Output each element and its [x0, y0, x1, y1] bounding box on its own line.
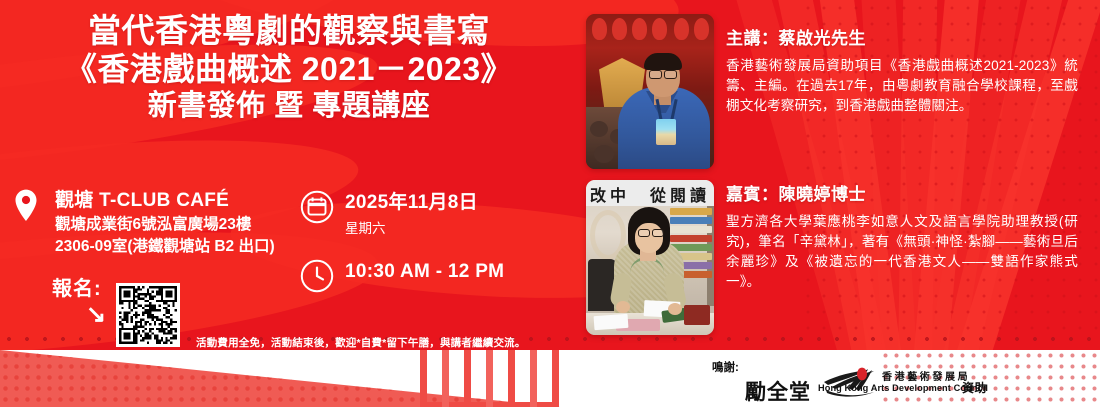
thanks-label: 鳴謝: [712, 359, 739, 375]
hkadc-name-cn: 香港藝術發展局 [882, 368, 970, 383]
banner-char: 從 [650, 182, 666, 206]
event-weekday: 星期六 [345, 217, 478, 237]
speaker-photo-2: 改 中 從 閱 讀 [586, 180, 714, 335]
time-row: 10:30 AM - 12 PM [300, 259, 590, 293]
schedule-info-group: 2025年11月8日 星期六 10:30 AM - 12 PM [300, 190, 590, 293]
qr-code-icon[interactable] [116, 283, 180, 347]
desk-paper [594, 314, 629, 330]
lantern-decoration [632, 18, 647, 40]
speaker-2-name: 嘉賓：陳曉婷博士 [726, 180, 1078, 205]
speaker-photo-1-image [586, 14, 714, 169]
guest-hand [668, 303, 682, 315]
date-text: 2025年11月8日 星期六 [345, 190, 478, 237]
calendar-icon [300, 190, 334, 224]
event-promo-banner: 當代香港粵劇的觀察與書寫 《香港戲曲概述 2021－2023》 新書發佈 暨 專… [0, 0, 1100, 407]
event-date: 2025年11月8日 [345, 191, 478, 215]
title-line-3: 新書發佈 暨 專題講座 [0, 89, 578, 123]
speaker-photo-1 [586, 14, 714, 169]
speaker-hair [644, 53, 682, 70]
register-label: 報名: [52, 272, 106, 301]
event-badge [656, 119, 676, 145]
speaker-1-name: 主講：蔡啟光先生 [726, 24, 1078, 49]
banner-char: 讀 [690, 182, 706, 206]
speaker-2-description: 聖方濟各大學葉應桃李如意人文及語言學院助理教授(研究)，筆名「辛黛林」，著有《無… [726, 212, 1078, 292]
venue-text: 觀塘 T-CLUB CAFÉ 觀塘成業街6號泓富廣場23樓 2306-09室(港… [55, 188, 275, 258]
lantern-decoration [592, 18, 607, 40]
lantern-decoration [652, 18, 667, 40]
banner-char: 中 [610, 182, 626, 206]
speaker-1-description: 香港藝術發展局資助項目《香港戲曲概述2021-2023》統籌、主編。在過去17年… [726, 56, 1078, 116]
registration-group: 報名: ↘ [52, 272, 106, 327]
wall-banner: 改 中 從 閱 讀 [586, 180, 714, 206]
time-text: 10:30 AM - 12 PM [345, 259, 504, 284]
funding-label: 資助 [962, 379, 987, 396]
venue-name: 觀塘 T-CLUB CAFÉ [55, 189, 275, 213]
event-fineprint: 活動費用全免，活動結束後，歡迎*自費*留下午膳，與講者繼續交流。 [196, 335, 546, 350]
location-pin-icon [10, 188, 44, 222]
event-title: 當代香港粵劇的觀察與書寫 《香港戲曲概述 2021－2023》 新書發佈 暨 專… [0, 12, 578, 123]
qr-code-pattern [119, 286, 177, 344]
banner-char: 改 [590, 182, 606, 206]
sponsor-footer: 鳴謝: 勵全堂 香港藝術發展局 Hong Kong Arts Developme… [0, 350, 1100, 407]
lantern-decoration [674, 18, 689, 40]
speaker-photo-2-image: 改 中 從 閱 讀 [586, 180, 714, 335]
date-row: 2025年11月8日 星期六 [300, 190, 590, 237]
arrow-down-right-icon: ↘ [86, 303, 106, 327]
banner-char: 閱 [670, 182, 686, 206]
event-time: 10:30 AM - 12 PM [345, 260, 504, 284]
venue-address-line-1: 觀塘成業街6號泓富廣場23樓 [55, 215, 275, 235]
eyeglass-lens [664, 70, 677, 79]
title-line-2: 《香港戲曲概述 2021－2023》 [0, 51, 578, 89]
venue-row: 觀塘 T-CLUB CAFÉ 觀塘成業街6號泓富廣場23樓 2306-09室(港… [10, 188, 300, 258]
guest-hand [616, 301, 630, 313]
speaker-bio-2: 嘉賓：陳曉婷博士 聖方濟各大學葉應桃李如意人文及語言學院助理教授(研究)，筆名「… [726, 180, 1078, 292]
lantern-decoration [694, 18, 709, 40]
eyeglass-lens [652, 229, 664, 237]
red-book [684, 305, 710, 325]
lantern-decoration [612, 18, 627, 40]
title-line-1: 當代香港粵劇的觀察與書寫 [0, 12, 578, 51]
eyeglass-lens [649, 70, 662, 79]
venue-info-group: 觀塘 T-CLUB CAFÉ 觀塘成業街6號泓富廣場23樓 2306-09室(港… [10, 188, 300, 258]
clock-icon [300, 259, 334, 293]
venue-address-line-2: 2306-09室(港鐵觀塘站 B2 出口) [55, 237, 275, 257]
speaker-bio-1: 主講：蔡啟光先生 香港藝術發展局資助項目《香港戲曲概述2021-2023》統籌、… [726, 24, 1078, 116]
guest-face [635, 223, 663, 253]
sponsor-name: 勵全堂 [745, 376, 811, 406]
eyeglass-lens [638, 229, 650, 237]
